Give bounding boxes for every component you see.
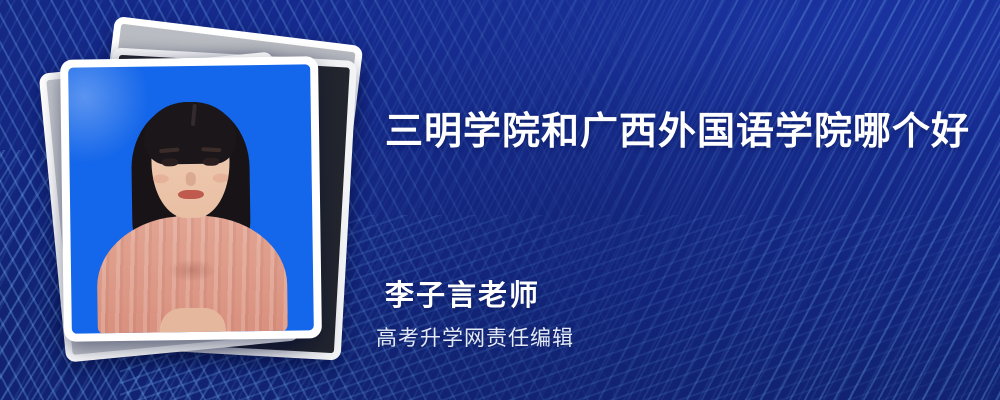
person-illustration	[68, 64, 314, 333]
dress-shadow	[157, 260, 227, 287]
author-photo-card	[60, 56, 322, 342]
article-header-banner: 三明学院和广西外国语学院哪个好 李子言老师 高考升学网责任编辑	[0, 0, 1000, 400]
page-title: 三明学院和广西外国语学院哪个好	[385, 100, 970, 155]
eye-right	[202, 158, 219, 166]
lips	[178, 190, 204, 199]
author-role: 高考升学网责任编辑	[376, 322, 574, 352]
hair-front	[144, 101, 237, 164]
author-photo-stack	[62, 36, 342, 356]
nose	[186, 172, 196, 186]
author-photo	[68, 64, 314, 333]
hands	[160, 308, 226, 334]
author-name: 李子言老师	[385, 272, 540, 314]
eye-left	[161, 158, 178, 166]
